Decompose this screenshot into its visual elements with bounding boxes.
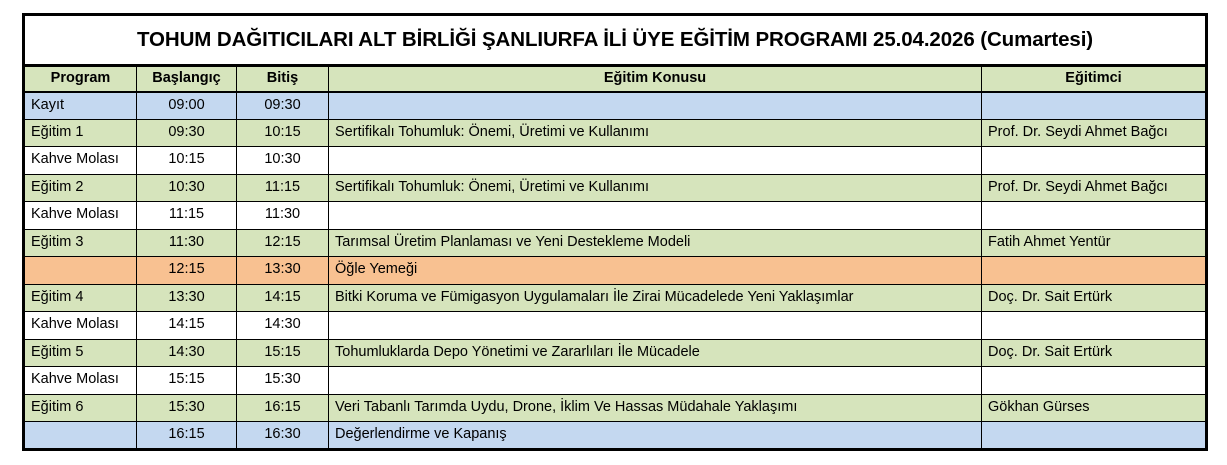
cell-trainer: Prof. Dr. Seydi Ahmet Bağcı <box>982 119 1207 147</box>
cell-start-time: 09:30 <box>137 119 237 147</box>
cell-start-time: 14:30 <box>137 339 237 367</box>
page-title: TOHUM DAĞITICILARI ALT BİRLİĞİ ŞANLIURFA… <box>24 15 1207 66</box>
cell-start-time: 16:15 <box>137 422 237 450</box>
cell-topic: Değerlendirme ve Kapanış <box>329 422 982 450</box>
cell-trainer <box>982 312 1207 340</box>
cell-end-time: 10:15 <box>237 119 329 147</box>
cell-start-time: 15:30 <box>137 394 237 422</box>
table-header-row: Program Başlangıç Bitiş Eğitim Konusu Eğ… <box>24 66 1207 92</box>
cell-trainer: Doç. Dr. Sait Ertürk <box>982 339 1207 367</box>
table-row: Eğitim 109:3010:15Sertifikalı Tohumluk: … <box>24 119 1207 147</box>
cell-program: Eğitim 1 <box>24 119 137 147</box>
table-row: Eğitim 514:3015:15Tohumluklarda Depo Yön… <box>24 339 1207 367</box>
cell-topic: Tohumluklarda Depo Yönetimi ve Zararlıla… <box>329 339 982 367</box>
cell-program: Kayıt <box>24 92 137 120</box>
cell-program: Eğitim 6 <box>24 394 137 422</box>
cell-program: Kahve Molası <box>24 202 137 230</box>
cell-program <box>24 257 137 285</box>
cell-start-time: 13:30 <box>137 284 237 312</box>
table-row: Eğitim 413:3014:15Bitki Koruma ve Fümiga… <box>24 284 1207 312</box>
cell-end-time: 09:30 <box>237 92 329 120</box>
table-row: Eğitim 210:3011:15Sertifikalı Tohumluk: … <box>24 174 1207 202</box>
cell-trainer <box>982 367 1207 395</box>
column-header-start: Başlangıç <box>137 66 237 92</box>
table-row: Kahve Molası15:1515:30 <box>24 367 1207 395</box>
table-row: Kahve Molası11:1511:30 <box>24 202 1207 230</box>
cell-program: Eğitim 5 <box>24 339 137 367</box>
cell-end-time: 13:30 <box>237 257 329 285</box>
column-header-end: Bitiş <box>237 66 329 92</box>
cell-topic <box>329 202 982 230</box>
cell-start-time: 10:30 <box>137 174 237 202</box>
column-header-topic: Eğitim Konusu <box>329 66 982 92</box>
cell-start-time: 12:15 <box>137 257 237 285</box>
table-row: 12:1513:30Öğle Yemeği <box>24 257 1207 285</box>
cell-end-time: 11:15 <box>237 174 329 202</box>
cell-trainer: Fatih Ahmet Yentür <box>982 229 1207 257</box>
table-row: Kahve Molası10:1510:30 <box>24 147 1207 175</box>
cell-topic: Bitki Koruma ve Fümigasyon Uygulamaları … <box>329 284 982 312</box>
cell-program: Kahve Molası <box>24 312 137 340</box>
cell-trainer: Doç. Dr. Sait Ertürk <box>982 284 1207 312</box>
cell-start-time: 11:15 <box>137 202 237 230</box>
table-row: Eğitim 615:3016:15Veri Tabanlı Tarımda U… <box>24 394 1207 422</box>
cell-start-time: 09:00 <box>137 92 237 120</box>
training-schedule-table: TOHUM DAĞITICILARI ALT BİRLİĞİ ŞANLIURFA… <box>22 13 1208 451</box>
cell-trainer <box>982 92 1207 120</box>
cell-end-time: 15:30 <box>237 367 329 395</box>
cell-end-time: 16:30 <box>237 422 329 450</box>
cell-trainer <box>982 147 1207 175</box>
table-row: 16:1516:30Değerlendirme ve Kapanış <box>24 422 1207 450</box>
cell-topic <box>329 367 982 395</box>
cell-end-time: 14:30 <box>237 312 329 340</box>
cell-topic: Tarımsal Üretim Planlaması ve Yeni Deste… <box>329 229 982 257</box>
cell-end-time: 12:15 <box>237 229 329 257</box>
title-row: TOHUM DAĞITICILARI ALT BİRLİĞİ ŞANLIURFA… <box>24 15 1207 66</box>
cell-program: Kahve Molası <box>24 147 137 175</box>
cell-start-time: 15:15 <box>137 367 237 395</box>
cell-end-time: 15:15 <box>237 339 329 367</box>
cell-trainer <box>982 202 1207 230</box>
schedule-sheet: TOHUM DAĞITICILARI ALT BİRLİĞİ ŞANLIURFA… <box>22 13 1205 447</box>
cell-topic <box>329 147 982 175</box>
cell-start-time: 11:30 <box>137 229 237 257</box>
cell-topic: Sertifikalı Tohumluk: Önemi, Üretimi ve … <box>329 174 982 202</box>
column-header-program: Program <box>24 66 137 92</box>
cell-program: Kahve Molası <box>24 367 137 395</box>
cell-trainer: Prof. Dr. Seydi Ahmet Bağcı <box>982 174 1207 202</box>
cell-program: Eğitim 2 <box>24 174 137 202</box>
column-header-trainer: Eğitimci <box>982 66 1207 92</box>
cell-topic <box>329 312 982 340</box>
cell-program: Eğitim 4 <box>24 284 137 312</box>
cell-topic: Öğle Yemeği <box>329 257 982 285</box>
cell-trainer <box>982 257 1207 285</box>
cell-end-time: 11:30 <box>237 202 329 230</box>
cell-topic <box>329 92 982 120</box>
cell-start-time: 10:15 <box>137 147 237 175</box>
cell-trainer: Gökhan Gürses <box>982 394 1207 422</box>
cell-end-time: 14:15 <box>237 284 329 312</box>
cell-end-time: 16:15 <box>237 394 329 422</box>
table-row: Kayıt09:0009:30 <box>24 92 1207 120</box>
cell-program <box>24 422 137 450</box>
cell-trainer <box>982 422 1207 450</box>
cell-topic: Veri Tabanlı Tarımda Uydu, Drone, İklim … <box>329 394 982 422</box>
table-row: Eğitim 311:3012:15Tarımsal Üretim Planla… <box>24 229 1207 257</box>
table-row: Kahve Molası14:1514:30 <box>24 312 1207 340</box>
cell-program: Eğitim 3 <box>24 229 137 257</box>
cell-topic: Sertifikalı Tohumluk: Önemi, Üretimi ve … <box>329 119 982 147</box>
cell-start-time: 14:15 <box>137 312 237 340</box>
cell-end-time: 10:30 <box>237 147 329 175</box>
